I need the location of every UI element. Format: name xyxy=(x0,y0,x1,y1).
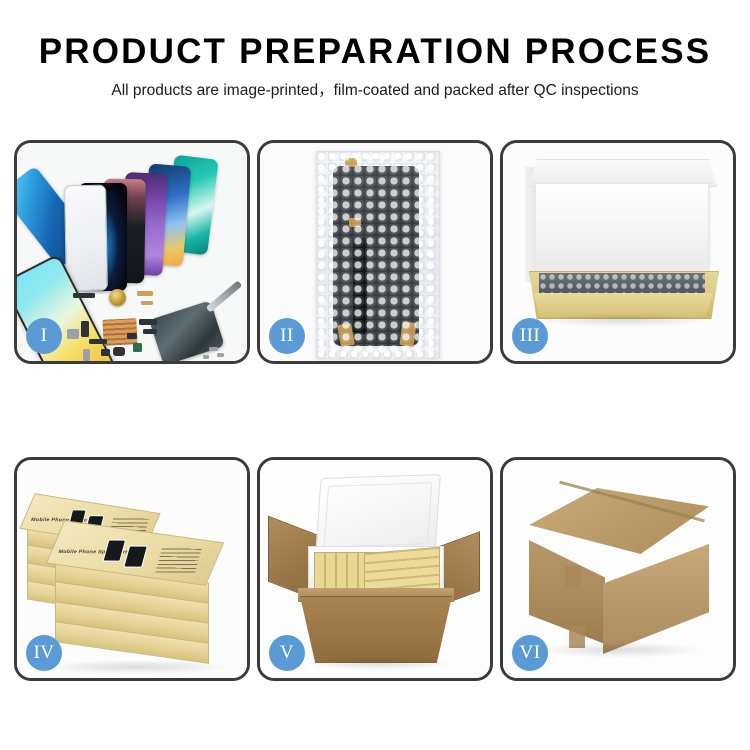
drop-shadow xyxy=(41,660,231,674)
step-badge-5: V xyxy=(269,635,305,671)
small-part xyxy=(101,349,110,356)
small-part xyxy=(67,329,79,339)
foam-box-lid xyxy=(315,474,441,556)
box-thumbnail xyxy=(102,540,126,562)
step-badge-4: IV xyxy=(26,635,62,671)
chip-array-part xyxy=(102,318,137,346)
small-part xyxy=(203,355,209,359)
small-part xyxy=(133,343,142,352)
tape-piece xyxy=(345,158,357,167)
small-part xyxy=(127,333,137,339)
small-part xyxy=(89,339,107,344)
small-part xyxy=(73,293,95,298)
drop-shadow xyxy=(535,313,711,327)
page-header: PRODUCT PREPARATION PROCESS All products… xyxy=(0,0,750,99)
foam-insert xyxy=(535,183,709,277)
process-step-panel-2: II xyxy=(257,140,493,364)
process-step-grid: I II xyxy=(14,140,736,681)
step-badge-1: I xyxy=(26,318,62,354)
gold-coil-part xyxy=(109,289,126,306)
flex-cable xyxy=(353,238,367,334)
drop-shadow xyxy=(304,656,454,670)
process-step-panel-6: VI xyxy=(500,457,736,681)
carton-tape xyxy=(565,566,581,588)
box-text-lines xyxy=(155,548,202,573)
small-part xyxy=(143,329,157,334)
small-part xyxy=(137,291,153,296)
page-title: PRODUCT PREPARATION PROCESS xyxy=(0,34,750,69)
step-badge-2: II xyxy=(269,318,305,354)
process-step-panel-4: Mobile Phone Spare Parts Mobile Phone Sp… xyxy=(14,457,250,681)
step-badge-6: VI xyxy=(512,635,548,671)
small-part xyxy=(83,349,90,361)
small-part xyxy=(209,347,218,351)
process-step-panel-3: III xyxy=(500,140,736,364)
small-part xyxy=(217,353,224,357)
carton-front xyxy=(300,596,452,663)
process-step-panel-5: V xyxy=(257,457,493,681)
tape-piece xyxy=(349,218,361,227)
step-badge-3: III xyxy=(512,318,548,354)
page-subtitle: All products are image-printed，film-coat… xyxy=(0,83,750,99)
glass-screen-protector xyxy=(64,185,108,292)
small-part xyxy=(141,301,153,305)
small-part xyxy=(113,347,125,356)
screen-assembly xyxy=(333,166,419,346)
small-part xyxy=(81,321,89,337)
drop-shadow xyxy=(537,642,705,658)
bubble-wrap-bag xyxy=(316,151,440,359)
process-step-panel-1: I xyxy=(14,140,250,364)
small-part xyxy=(139,319,157,325)
